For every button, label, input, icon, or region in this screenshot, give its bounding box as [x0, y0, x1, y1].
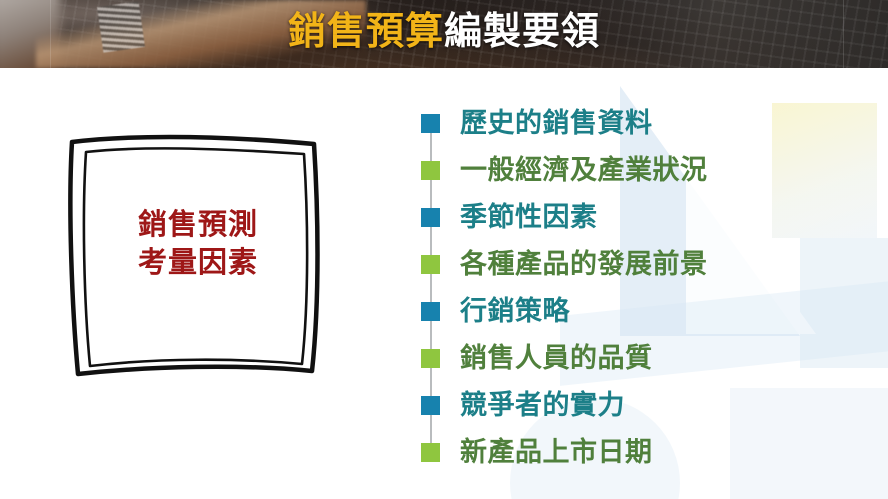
list-item[interactable]: 各種產品的發展前景 — [418, 241, 858, 288]
list-item-label: 新產品上市日期 — [460, 437, 653, 469]
list-item[interactable]: 銷售人員的品質 — [418, 335, 858, 382]
title-banner: 銷售預算編製要領 — [0, 0, 888, 68]
sales-forecast-callout-text: 銷售預測 考量因素 — [62, 205, 334, 281]
bullet-square-icon — [421, 349, 440, 368]
list-item[interactable]: 新產品上市日期 — [418, 429, 858, 476]
list-item-label: 競爭者的實力 — [460, 390, 625, 422]
callout-line-1: 銷售預測 — [62, 205, 334, 243]
list-item-label: 各種產品的發展前景 — [460, 249, 708, 281]
callout-line-2: 考量因素 — [62, 243, 334, 281]
bullet-square-icon — [421, 443, 440, 462]
bullet-square-icon — [421, 255, 440, 274]
bullet-square-icon — [421, 302, 440, 321]
list-item-label: 一般經濟及產業狀況 — [460, 155, 708, 187]
bullet-square-icon — [421, 396, 440, 415]
list-item[interactable]: 競爭者的實力 — [418, 382, 858, 429]
bullet-square-icon — [421, 114, 440, 133]
list-item-label: 季節性因素 — [460, 202, 598, 234]
list-item-label: 歷史的銷售資料 — [460, 108, 653, 140]
page-title: 銷售預算編製要領 — [0, 5, 888, 57]
list-item-label: 銷售人員的品質 — [460, 343, 653, 375]
list-item[interactable]: 行銷策略 — [418, 288, 858, 335]
page-title-primary: 銷售預算 — [288, 9, 444, 53]
list-item[interactable]: 歷史的銷售資料 — [418, 100, 858, 147]
bullet-square-icon — [421, 208, 440, 227]
slide-canvas: 銷售預算編製要領 銷售預測 考量因素 歷史的銷售資料 一般經濟及 — [0, 0, 888, 499]
page-title-secondary: 編製要領 — [444, 9, 600, 53]
list-item-label: 行銷策略 — [460, 296, 570, 328]
list-item[interactable]: 一般經濟及產業狀況 — [418, 147, 858, 194]
bullet-square-icon — [421, 161, 440, 180]
consideration-factors-list: 歷史的銷售資料 一般經濟及產業狀況 季節性因素 各種產品的發展前景 行銷策略 銷… — [418, 100, 858, 476]
list-item[interactable]: 季節性因素 — [418, 194, 858, 241]
